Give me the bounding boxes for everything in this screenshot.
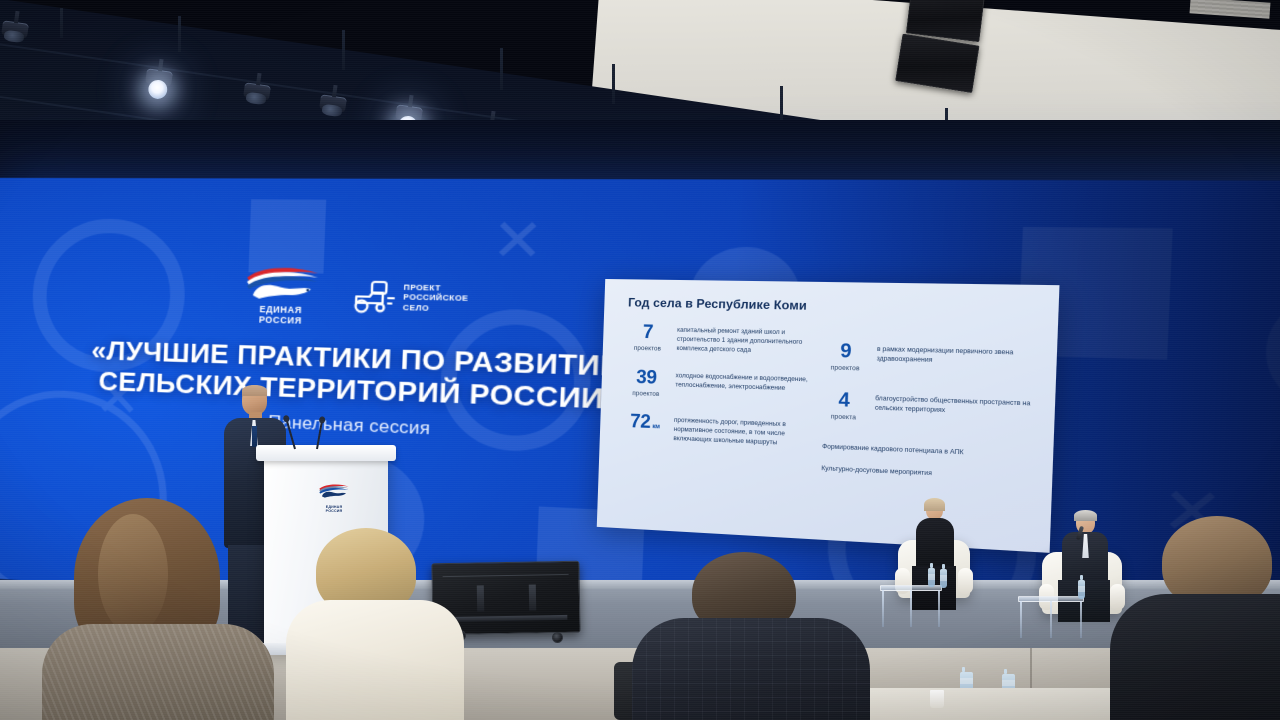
audience-cream-blouse	[286, 600, 464, 720]
stage-spotlight	[1, 20, 29, 38]
speaker-tie	[252, 426, 257, 447]
water-bottle	[928, 568, 935, 587]
audience-suit-check-pattern	[632, 618, 870, 720]
slide-right-column: 9 проектов в рамках модернизации первичн…	[819, 327, 1039, 484]
slide-plain-item: Культурно-досуговые мероприятия	[821, 465, 1034, 484]
slide-stat-item: 72км протяженность дорог, приведенных в …	[623, 412, 814, 450]
stat-description: в рамках модернизации первичного звена з…	[876, 343, 1039, 369]
slide-plain-item: Формирование кадрового потенциала в АПК	[822, 443, 1035, 461]
stat-number: 39	[625, 368, 668, 388]
stat-unit-label: проекта	[821, 413, 866, 422]
bear-flag-icon	[242, 264, 323, 303]
stat-number: 7	[627, 323, 670, 343]
audience-man-dark-suit	[640, 552, 860, 720]
rossiyskoe-selo-logo: ПРОЕКТ РОССИЙСКОЕ СЕЛО	[349, 279, 469, 316]
led-title-block: ЕДИНАЯ РОССИЯ ПРОЕКТ РО	[76, 261, 652, 449]
conference-hall-scene: ✕ ✕ ✕	[0, 0, 1280, 720]
line-array-speaker	[899, 0, 988, 94]
truss-hang-rod	[612, 64, 615, 104]
stage-spotlight	[319, 94, 347, 112]
water-bottle	[1078, 580, 1085, 599]
slide-stat-item: 4 проекта благоустройство общественных п…	[821, 390, 1037, 428]
podium-desktop	[256, 445, 396, 461]
monitor-caster-wheel	[552, 632, 563, 643]
logo-caption: ПРОЕКТ РОССИЙСКОЕ СЕЛО	[403, 283, 469, 314]
presentation-slide: Год села в Республике Коми 7 проектов ка…	[597, 279, 1060, 553]
stat-number: 9	[823, 341, 869, 362]
podium-logo-caption: ЕДИНАЯ РОССИЯ	[316, 505, 352, 514]
stat-unit-label: проектов	[823, 364, 868, 373]
bear-flag-icon	[317, 483, 351, 499]
stat-description: холодное водоснабжение и водоотведение, …	[675, 369, 816, 395]
stat-description: протяженность дорог, приведенных в норма…	[673, 414, 814, 450]
podium-edinaya-rossiya-logo: ЕДИНАЯ РОССИЯ	[316, 483, 352, 514]
slide-header: Год села в Республике Коми	[628, 295, 1041, 317]
event-title: «ЛУЧШИЕ ПРАКТИКИ ПО РАЗВИТИЮ СЕЛЬСКИХ ТЕ…	[77, 334, 649, 417]
water-bottle	[940, 569, 947, 588]
truss-hang-rod	[178, 16, 181, 52]
audience-jacket-texture	[42, 624, 274, 720]
slide-left-column: 7 проектов капитальный ремонт зданий шко…	[623, 323, 818, 474]
slide-stat-item: 7 проектов капитальный ремонт зданий шко…	[626, 323, 817, 358]
stat-description: благоустройство общественных пространств…	[875, 392, 1037, 420]
slide-stat-item: 39 проектов холодное водоснабжение и вод…	[625, 368, 816, 404]
panelist-torso	[916, 518, 954, 570]
edinaya-rossiya-logo: ЕДИНАЯ РОССИЯ	[241, 264, 322, 326]
truss-hang-rod	[60, 8, 63, 38]
truss-hang-rod	[342, 30, 345, 70]
stat-unit-label: проектов	[625, 390, 667, 398]
led-logos-row: ЕДИНАЯ РОССИЯ ПРОЕКТ РО	[80, 261, 652, 334]
glass-side-table-right	[1018, 596, 1084, 638]
tractor-icon	[349, 279, 397, 314]
logo-caption: ЕДИНАЯ РОССИЯ	[259, 305, 303, 326]
speaker-hair	[242, 385, 267, 396]
audience-young-man-right	[1124, 516, 1280, 720]
panelist-hair	[924, 498, 945, 511]
ceiling-vent	[1190, 0, 1271, 19]
stage-spotlight	[243, 82, 271, 100]
stat-unit-label: проектов	[626, 345, 668, 353]
audience-suit-jacket	[1110, 594, 1280, 720]
slide-stat-item: 9 проектов в рамках модернизации первичн…	[823, 341, 1039, 377]
truss-hang-rod	[500, 48, 503, 90]
panelist-hair	[1074, 510, 1097, 521]
stat-number: 4	[821, 390, 867, 411]
stat-description: капитальный ремонт зданий школ и строите…	[676, 324, 818, 358]
audience-hair-highlight	[98, 514, 168, 634]
stage-spotlight-lit	[145, 68, 173, 86]
audience-woman-blonde	[292, 528, 452, 720]
audience-woman-brunette	[46, 498, 246, 720]
stat-number-unit: км	[652, 423, 660, 430]
stat-number: 72км	[624, 412, 667, 433]
paper-cup	[930, 690, 944, 708]
glass-side-table-left	[880, 585, 942, 627]
